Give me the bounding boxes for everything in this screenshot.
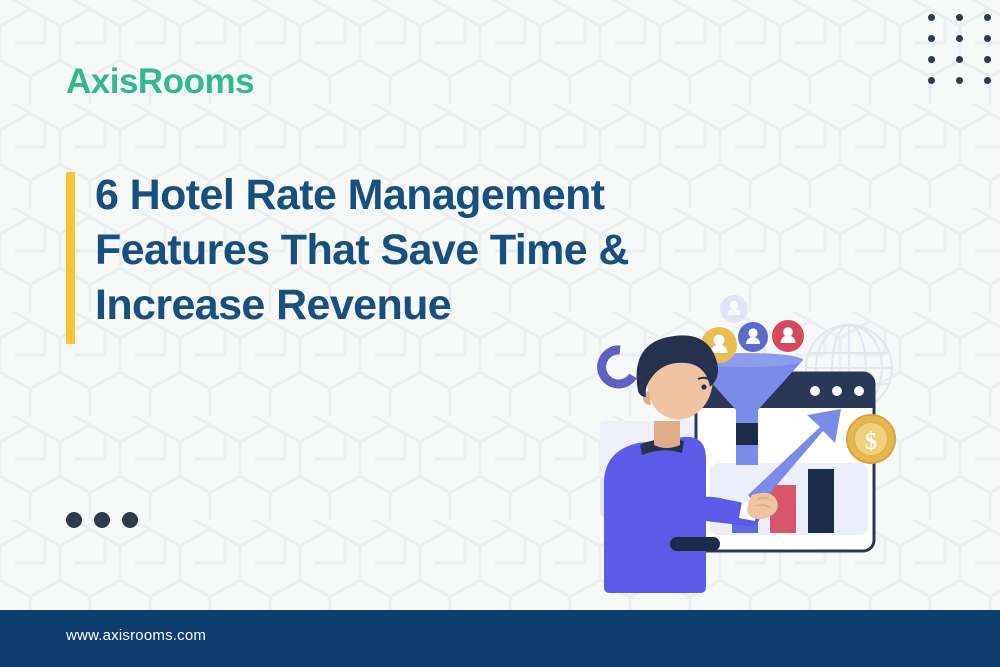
headline-line-2: Features That Save Time & <box>95 223 735 278</box>
funnel-neck-dark <box>736 423 758 445</box>
grid-dot <box>984 56 991 63</box>
headline-line-1: 6 Hotel Rate Management <box>95 168 735 223</box>
avatar-faded <box>720 295 748 323</box>
promo-banner: AxisRooms 6 Hotel Rate Management Featur… <box>0 0 1000 667</box>
brand-logo: AxisRooms <box>66 62 254 102</box>
avatar-blue <box>738 322 768 352</box>
footer-bar: www.axisrooms.com <box>0 610 1000 667</box>
grid-dot <box>928 14 935 21</box>
bottom-dots-decoration <box>66 512 138 528</box>
headline-accent-bar <box>66 172 75 344</box>
grid-dot <box>928 56 935 63</box>
funnel-neck-light <box>736 445 758 465</box>
grid-dot <box>984 14 991 21</box>
accent-dot <box>66 512 82 528</box>
grid-dot <box>928 77 935 84</box>
grid-dot <box>956 14 963 21</box>
coin-dollar-symbol: $ <box>865 429 877 455</box>
neck <box>654 421 680 448</box>
bar-navy <box>808 469 834 533</box>
grid-dot <box>956 56 963 63</box>
revenue-funnel-illustration: $ <box>592 295 922 595</box>
grid-dot <box>956 35 963 42</box>
website-url[interactable]: www.axisrooms.com <box>66 627 206 644</box>
accent-dot <box>122 512 138 528</box>
avatar-red <box>772 320 804 352</box>
browser-dot <box>854 386 864 396</box>
dollar-coin-icon: $ <box>847 415 895 463</box>
grid-dot <box>984 35 991 42</box>
dot-grid-decoration <box>928 14 1000 98</box>
grid-dot <box>984 77 991 84</box>
eye <box>701 384 706 389</box>
browser-dot <box>832 386 842 396</box>
browser-dot <box>810 386 820 396</box>
grid-dot <box>956 77 963 84</box>
pocket-detail <box>670 537 720 551</box>
grid-dot <box>928 35 935 42</box>
accent-dot <box>94 512 110 528</box>
donut-chart-icon <box>602 350 633 384</box>
